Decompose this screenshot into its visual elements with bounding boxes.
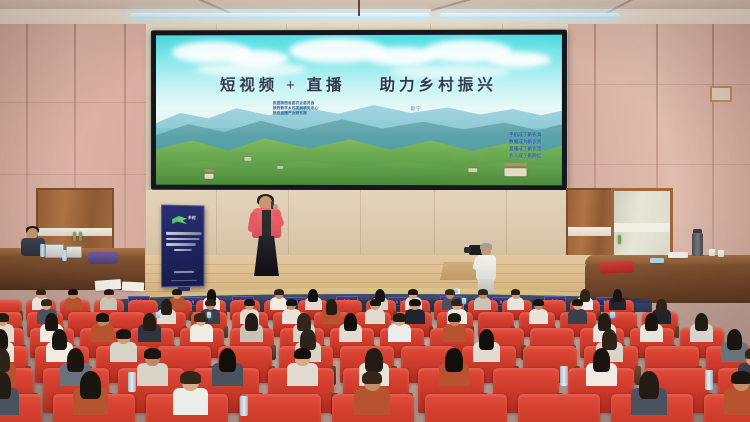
banner-logo: 乡村 [172, 213, 196, 226]
audience-body [65, 297, 82, 310]
thermos-flask [692, 233, 703, 256]
audience-hair [286, 299, 297, 306]
audience-body [190, 324, 213, 342]
audience-hair [602, 329, 617, 350]
slide-organizations: 民盟陕西省委农业委员会 陕西数字乡村发展研究中心 陕西直播产业研究院 [273, 101, 318, 117]
audience-hair [639, 371, 659, 399]
slide-slogan-line: 手机成了新农具 [509, 132, 541, 139]
slide-slogans: 手机成了新农具 数据成为新农资 直播成了新农活 农人成了新网红 [509, 132, 541, 160]
speaker-inner-top [262, 210, 271, 236]
audience-body [724, 388, 750, 415]
papers [650, 258, 664, 263]
audience-hair [172, 289, 182, 295]
rollup-banner: 乡村 [161, 205, 204, 288]
audience-hair [219, 348, 236, 372]
slide-title-left: 短视频 + 直播 [220, 73, 346, 95]
purple-bag [88, 252, 118, 264]
audience-hair [656, 299, 667, 315]
water-bottle [128, 372, 136, 392]
audience-hair [300, 329, 315, 350]
audience-hair [511, 289, 521, 295]
audience-hair [245, 313, 258, 331]
led-screen: 短视频 + 直播 助力乡村振兴 民盟陕西省委农业委员会 陕西数字乡村发展研究中心… [151, 30, 567, 191]
screen-content: 短视频 + 直播 助力乡村振兴 民盟陕西省委农业委员会 陕西数字乡村发展研究中心… [156, 35, 562, 186]
swoosh-icon [172, 216, 187, 224]
audience-hair [36, 289, 46, 295]
audience-body [443, 324, 466, 342]
audience-hair [448, 313, 461, 321]
audience-body [474, 297, 491, 310]
audience-hair [445, 348, 462, 372]
audience-hair [45, 313, 58, 331]
slide-title: 短视频 + 直播 助力乡村振兴 [156, 72, 562, 94]
auditorium-seat [239, 394, 321, 422]
camera-lens-icon [464, 247, 471, 253]
audience-body [405, 309, 425, 324]
audience-hair [572, 299, 583, 306]
ceiling-light-strip [440, 13, 620, 18]
cup [718, 250, 724, 257]
audience-hair [478, 289, 488, 295]
smartphone-icon [156, 312, 160, 319]
audience-hair [593, 348, 610, 372]
audience-hair [96, 313, 109, 321]
audience-hair [445, 289, 455, 295]
audience-hair [326, 299, 337, 315]
water-bottle [40, 244, 45, 257]
banner-subtext [174, 271, 194, 273]
audience-hair [479, 329, 494, 350]
audience-body [110, 342, 136, 362]
audience-body [365, 309, 385, 324]
audience-hair [645, 313, 658, 331]
cup [709, 249, 715, 256]
audience-hair [68, 289, 78, 295]
audience-hair [52, 329, 67, 350]
audience-body [173, 388, 208, 415]
wall-seam [26, 24, 28, 254]
slide-slogan-line: 直播成了新农活 [509, 146, 541, 153]
audience-hair [533, 299, 544, 306]
audience-hair [41, 299, 52, 306]
slide-title-right: 助力乡村振兴 [380, 72, 497, 94]
audience-hair [451, 299, 462, 306]
audience-body [388, 324, 411, 342]
slide-slogan-line: 农人成了新网红 [509, 153, 541, 160]
cameraman [473, 243, 499, 295]
audience-hair [143, 313, 156, 331]
audience-body [270, 297, 287, 310]
audience-body [354, 388, 389, 415]
audience-hair [205, 299, 216, 306]
audience-hair [731, 371, 750, 384]
laptop[interactable] [66, 246, 82, 258]
audience-hair [116, 329, 131, 339]
audience-hair [294, 348, 311, 359]
slide-slogan-line: 数据成为新农资 [509, 139, 541, 146]
ceiling-beam [0, 0, 750, 9]
audience-hair [67, 348, 84, 372]
audience-hair [365, 348, 382, 372]
audience-hair [180, 371, 200, 384]
audience-body [287, 363, 318, 387]
audience-hair [244, 299, 255, 306]
smartphone-icon [207, 312, 211, 319]
audience-hair [144, 348, 161, 359]
slide-org-line: 陕西直播产业研究院 [273, 111, 318, 116]
wall-picture-frame [710, 86, 732, 102]
slide-presenter-name: 赵宁 [411, 105, 422, 111]
audience-hair [104, 289, 114, 295]
wall-seam [560, 84, 750, 85]
banner-footer [171, 279, 197, 281]
audience-hair [194, 313, 207, 321]
red-cloth-item [600, 261, 635, 274]
audience-hair [695, 313, 708, 331]
papers [122, 281, 144, 291]
audience-hair [308, 289, 318, 302]
audience-body [137, 363, 168, 387]
ceiling-light-strip [130, 13, 430, 18]
audience-hair [161, 299, 172, 315]
audience-hair [613, 289, 623, 302]
wall-seam [712, 24, 714, 274]
ceiling-hanger [358, 0, 360, 16]
audience-hair [370, 299, 381, 306]
seat-armrest [224, 326, 228, 339]
audience-hair [393, 313, 406, 321]
smartphone-icon [455, 288, 458, 293]
papers [668, 252, 688, 258]
audience-hair [0, 313, 9, 321]
audience-body [507, 297, 524, 310]
speaker-hand [273, 204, 278, 210]
auditorium-seat [518, 394, 600, 422]
audience-body [568, 309, 588, 324]
wall-seam [560, 164, 750, 165]
speaker-skirt [253, 236, 280, 276]
smartphone-icon [462, 298, 466, 304]
auditorium-seat [425, 394, 507, 422]
wall-seam [124, 24, 126, 254]
audience-hair [745, 348, 750, 359]
water-bottle [560, 366, 568, 386]
audience-hair [362, 371, 382, 384]
smartphone-icon [610, 312, 614, 319]
wall-seam [0, 174, 160, 175]
audience-hair [80, 371, 100, 399]
water-bottle [240, 396, 248, 416]
water-bottle [62, 250, 67, 261]
speaker-presenter [250, 196, 284, 276]
audience-hair [274, 289, 284, 295]
water-bottle [705, 370, 713, 390]
stage-back-wall [146, 190, 570, 262]
seat-armrest [675, 326, 679, 339]
audience-body [91, 324, 114, 342]
audience-hair [344, 313, 357, 331]
audience-body [100, 297, 117, 310]
audience-hair [408, 289, 418, 295]
banner-logo-text: 乡村 [188, 215, 196, 221]
banner-text-lines [166, 232, 202, 254]
audience-hair [727, 329, 742, 350]
audience-body [529, 309, 549, 324]
audience-hair [409, 299, 420, 306]
wall-seam [0, 102, 160, 103]
auditorium-photo: 短视频 + 直播 助力乡村振兴 民盟陕西省委农业委员会 陕西数字乡村发展研究中心… [0, 0, 750, 422]
